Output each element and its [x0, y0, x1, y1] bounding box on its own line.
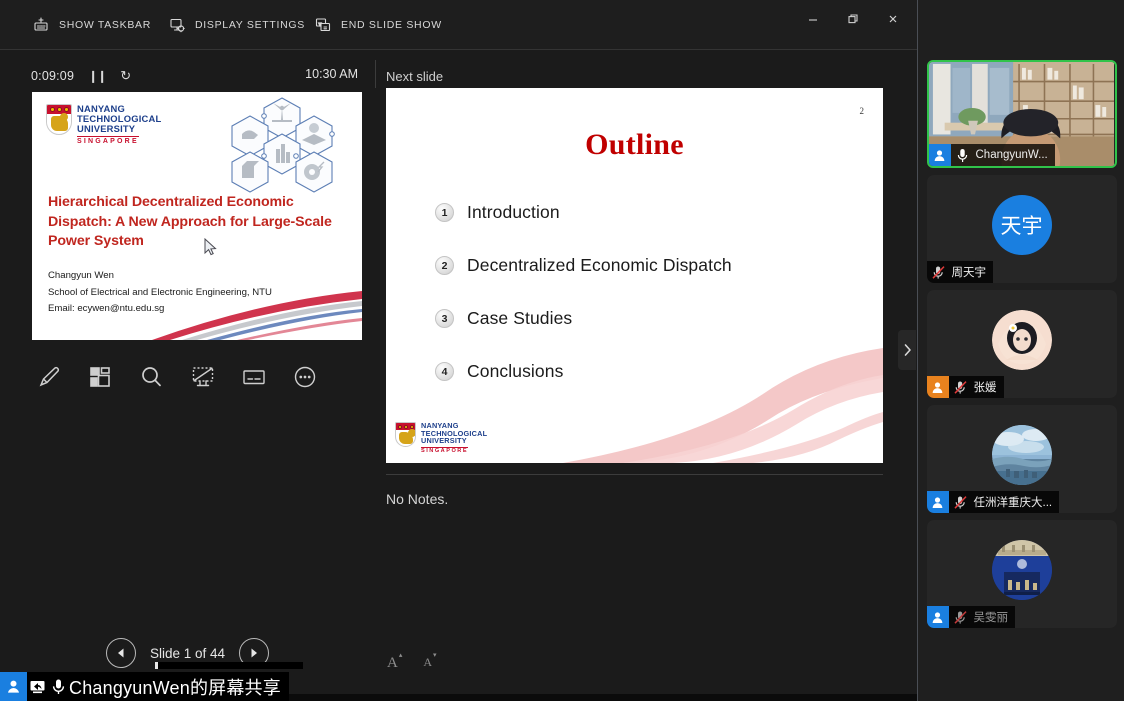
restore-button[interactable]: [833, 6, 873, 32]
presenter-view-screen: SHOW TASKBAR DISPLAY SETTINGS ▼: [0, 0, 1124, 701]
ntu-line-4: SINGAPORE: [77, 136, 139, 145]
avatar: 天宇: [992, 195, 1052, 255]
avatar: [992, 425, 1052, 485]
ntu-line-3: UNIVERSITY: [77, 124, 161, 134]
zoom-icon[interactable]: [134, 360, 168, 394]
participant-name-bar: 任洲洋重庆大...: [927, 491, 1060, 513]
avatar-photo: [992, 425, 1052, 485]
participant-tile[interactable]: 任洲洋重庆大...: [927, 405, 1117, 513]
participant-name-bar: 吴雯丽: [927, 606, 1016, 628]
end-slide-show-label: END SLIDE SHOW: [341, 19, 442, 31]
outline-list: 1 Introduction 2 Decentralized Economic …: [435, 186, 873, 398]
slide-affiliation: School of Electrical and Electronic Engi…: [48, 285, 348, 302]
slide-author: Changyun Wen: [48, 268, 348, 285]
next-slide-header: Next slide: [386, 69, 443, 84]
ntu-logo: NANYANG TECHNOLOGICAL UNIVERSITY SINGAPO…: [46, 104, 161, 145]
pen-icon[interactable]: [32, 360, 66, 394]
slide-navigation: Slide 1 of 44: [0, 628, 375, 678]
list-label: Decentralized Economic Dispatch: [467, 255, 732, 276]
participant-tile[interactable]: 吴雯丽: [927, 520, 1117, 628]
chevron-right-icon: [903, 343, 912, 357]
taskbar-icon: [32, 16, 50, 34]
mouse-cursor-icon: [204, 238, 217, 256]
slide-progress-fill: [155, 662, 158, 669]
reset-timer-button[interactable]: ↻: [120, 68, 131, 84]
display-settings-icon: [168, 16, 186, 34]
next-slide-preview[interactable]: 2 Outline 1 Introduction 2 Decentralized…: [386, 88, 883, 463]
notes-content[interactable]: No Notes.: [386, 491, 448, 507]
pane-divider: [375, 60, 376, 88]
close-button[interactable]: [873, 6, 913, 32]
subtitles-icon[interactable]: [237, 360, 271, 394]
elapsed-timer: 0:09:09: [31, 69, 74, 83]
host-badge-icon: [927, 491, 949, 513]
participant-tile[interactable]: 天宇 周天宇: [927, 175, 1117, 283]
window-controls: [793, 6, 913, 32]
display-settings-label: DISPLAY SETTINGS: [195, 19, 305, 31]
list-label: Conclusions: [467, 361, 563, 382]
next-slide-pane: Next slide 2 Outline 1 Introduction 2: [383, 50, 917, 694]
list-item: 1 Introduction: [435, 186, 873, 239]
slide-author-block: Changyun Wen School of Electrical and El…: [48, 268, 348, 318]
list-item: 2 Decentralized Economic Dispatch: [435, 239, 873, 292]
participant-tile[interactable]: 张媛: [927, 290, 1117, 398]
list-number: 3: [435, 309, 454, 328]
ntu-crest-icon: [46, 104, 72, 135]
more-options-icon[interactable]: [288, 360, 322, 394]
display-settings-button[interactable]: DISPLAY SETTINGS ▼: [168, 16, 325, 34]
list-number: 4: [435, 362, 454, 381]
participant-name: ChangyunW...: [974, 149, 1048, 161]
expand-panel-handle[interactable]: [898, 330, 916, 370]
current-slide-pane: 0:09:09 ❙❙ ↻ 10:30 AM: [0, 50, 375, 694]
participant-name: 任洲洋重庆大...: [972, 494, 1053, 510]
participant-name: 周天宇: [950, 264, 987, 280]
microphone-muted-icon: [949, 610, 972, 625]
microphone-muted-icon: [927, 265, 950, 280]
participant-tile[interactable]: ChangyunW...: [927, 60, 1117, 168]
avatar-photo: [992, 540, 1052, 600]
participant-name: 张媛: [972, 379, 997, 395]
participant-name-bar: 张媛: [927, 376, 1004, 398]
end-slide-show-icon: [314, 16, 332, 34]
avatar-initials: 天宇: [1001, 210, 1043, 240]
microphone-icon: [951, 148, 974, 163]
list-label: Introduction: [467, 202, 560, 223]
participant-name-bar: 周天宇: [927, 261, 994, 283]
participant-name-bar: ChangyunW...: [929, 144, 1055, 166]
list-number: 1: [435, 203, 454, 222]
next-slide-title: Outline: [386, 128, 883, 162]
host-badge-icon: [0, 672, 27, 701]
slide-title: Hierarchical Decentralized Economic Disp…: [48, 193, 346, 252]
host-badge-icon: [927, 606, 949, 628]
decrease-font-size-button[interactable]: A▾: [423, 655, 435, 672]
participant-name: 吴雯丽: [972, 609, 1009, 625]
notes-divider: [386, 474, 883, 475]
ntu-logo: NANYANG TECHNOLOGICAL UNIVERSITY SINGAPO…: [395, 422, 487, 455]
ntu-crest-icon: [395, 422, 416, 447]
microphone-icon: [48, 678, 69, 695]
microphone-muted-icon: [949, 495, 972, 510]
ntu-line-3: UNIVERSITY: [421, 437, 487, 445]
timer-row: 0:09:09 ❙❙ ↻ 10:30 AM: [0, 66, 375, 86]
host-badge-icon: [927, 376, 949, 398]
screen-share-icon: [27, 678, 48, 695]
share-status-text: ChangyunWen的屏幕共享: [69, 674, 289, 700]
list-item: 4 Conclusions: [435, 345, 873, 398]
show-taskbar-label: SHOW TASKBAR: [59, 19, 151, 31]
slide-counter: Slide 1 of 44: [150, 646, 225, 661]
slide-email: Email: ecywen@ntu.edu.sg: [48, 301, 348, 318]
previous-slide-button[interactable]: [106, 638, 136, 668]
avatar-photo: [992, 310, 1052, 370]
avatar: [992, 310, 1052, 370]
end-slide-show-button[interactable]: END SLIDE SHOW: [314, 16, 442, 34]
slide-progress-bar[interactable]: [155, 662, 303, 669]
participants-strip: ChangyunW... 天宇: [917, 0, 1124, 701]
slide-page-number: 2: [860, 106, 865, 116]
current-clock: 10:30 AM: [305, 67, 358, 81]
avatar: [992, 540, 1052, 600]
notes-font-controls: A▴ A▾: [387, 655, 436, 672]
pause-timer-button[interactable]: ❙❙: [88, 69, 106, 83]
current-slide-thumbnail[interactable]: NANYANG TECHNOLOGICAL UNIVERSITY SINGAPO…: [32, 92, 362, 340]
presenter-toolbar: SHOW TASKBAR DISPLAY SETTINGS ▼: [0, 0, 917, 50]
show-taskbar-button[interactable]: SHOW TASKBAR: [32, 16, 151, 34]
increase-font-size-button[interactable]: A▴: [387, 655, 401, 672]
powerpoint-presenter-window: SHOW TASKBAR DISPLAY SETTINGS ▼: [0, 0, 917, 694]
minimize-button[interactable]: [793, 6, 833, 32]
screen-share-status-bar: ChangyunWen的屏幕共享: [0, 672, 289, 701]
host-badge-icon: [929, 144, 951, 166]
ntu-line-4: SINGAPORE: [421, 447, 468, 455]
list-item: 3 Case Studies: [435, 292, 873, 345]
list-number: 2: [435, 256, 454, 275]
black-screen-icon[interactable]: [186, 360, 220, 394]
all-slides-icon[interactable]: [83, 360, 117, 394]
list-label: Case Studies: [467, 308, 572, 329]
slide-tools-bar: [32, 352, 322, 402]
microphone-muted-icon: [949, 380, 972, 395]
